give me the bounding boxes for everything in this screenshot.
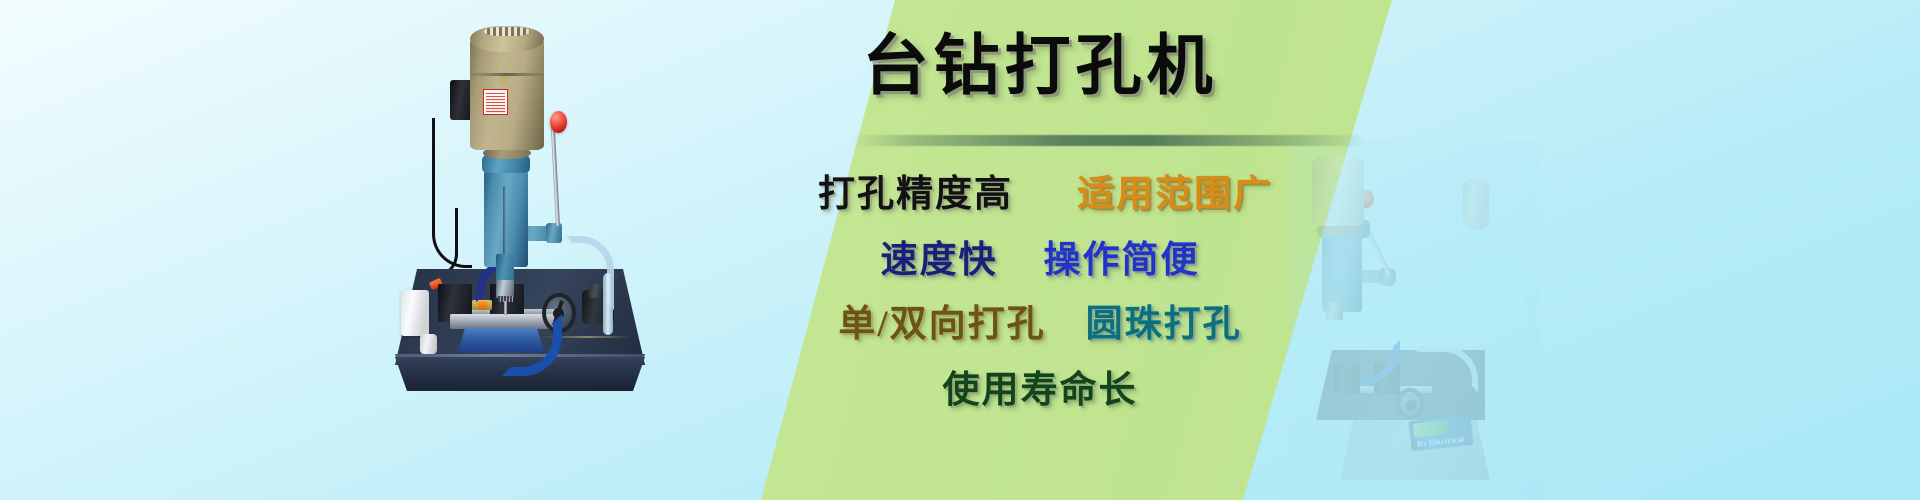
coolant-nozzle	[478, 301, 487, 310]
page-title: 台钻打孔机	[660, 34, 1420, 100]
power-plug	[420, 334, 437, 354]
motor-screw	[501, 77, 506, 82]
drill-bit	[504, 301, 507, 315]
feed-lever-knob	[550, 111, 567, 133]
banner-text-block: 台钻打孔机 打孔精度高 适用范围广 速度快 操作简便 单/双向打孔 圆珠打孔 使…	[660, 0, 1420, 500]
motor-vents	[484, 27, 530, 36]
feature-wide-application: 适用范围广	[1077, 176, 1272, 215]
drill-press-illustration	[370, 18, 670, 388]
cross-arm-boss	[546, 223, 562, 243]
feature-row-3: 单/双向打孔 圆珠打孔	[660, 306, 1420, 345]
product-photo-bench-drill-press-front	[370, 18, 670, 388]
motor-nameplate-text	[486, 92, 505, 112]
feature-row-1: 打孔精度高 适用范围广	[660, 176, 1420, 215]
motor-junction-box	[450, 80, 472, 120]
feature-single-double-drilling: 单/双向打孔	[838, 306, 1045, 345]
electrical-box	[401, 290, 429, 336]
motor-nameplate	[483, 89, 508, 115]
feed-lever-rod	[551, 126, 560, 226]
feature-row-4: 使用寿命长	[660, 372, 1420, 411]
product-banner: Rs Electrical 台钻打孔机 打孔精度高 适用范围广 速度快	[0, 0, 1920, 500]
column-groove	[503, 186, 507, 256]
title-divider	[852, 135, 1366, 146]
feature-ball-drilling: 圆珠打孔	[1086, 306, 1242, 345]
feature-row-2: 速度快 操作简便	[660, 242, 1420, 281]
motor-seam	[470, 73, 544, 76]
feature-long-service-life: 使用寿命长	[943, 372, 1138, 411]
feature-fast-speed: 速度快	[881, 242, 998, 281]
coolant-hose-clear-drop	[603, 273, 613, 335]
feature-easy-operation: 操作简便	[1044, 242, 1200, 281]
power-cord-loop	[432, 208, 458, 278]
feature-drilling-accuracy: 打孔精度高	[818, 176, 1013, 215]
